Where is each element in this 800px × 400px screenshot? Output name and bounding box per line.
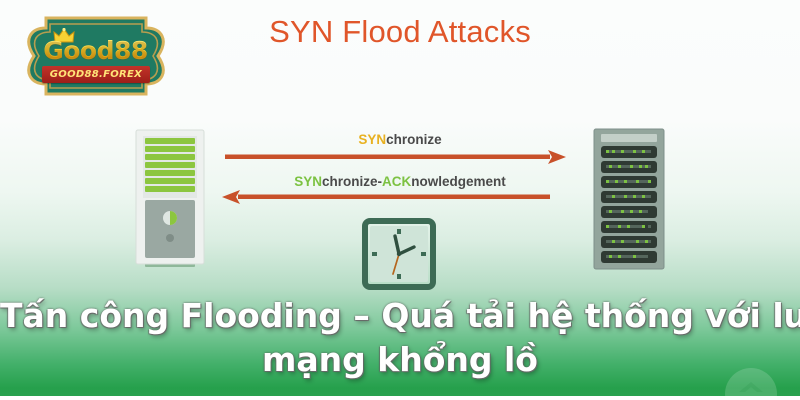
clock-icon xyxy=(358,218,440,290)
syn-ack-rest-1: chronize- xyxy=(322,174,382,189)
syn-message-rest: chronize xyxy=(386,132,442,147)
syn-ack-rest-2: nowledgement xyxy=(411,174,506,189)
syn-message-label: SYNchronize xyxy=(300,132,500,147)
page-title: SYN Flood Attacks xyxy=(0,14,800,50)
syn-keyword: SYN xyxy=(358,132,386,147)
watermark-icon xyxy=(708,364,794,398)
slide-canvas: Good88 GOOD88.FOREX SYN Flood Attacks xyxy=(0,0,800,400)
ack-keyword: ACK xyxy=(382,174,411,189)
syn-keyword-2: SYN xyxy=(294,174,322,189)
bottom-strip xyxy=(0,396,800,400)
caption-line-2: mạng khổng lồ xyxy=(0,338,800,382)
caption-text: Tấn công Flooding – Quá tải hệ thống với… xyxy=(0,294,800,382)
caption-line-1: Tấn công Flooding – Quá tải hệ thống với… xyxy=(0,294,800,338)
syn-ack-message-label: SYNchronize-ACKnowledgement xyxy=(270,174,530,189)
